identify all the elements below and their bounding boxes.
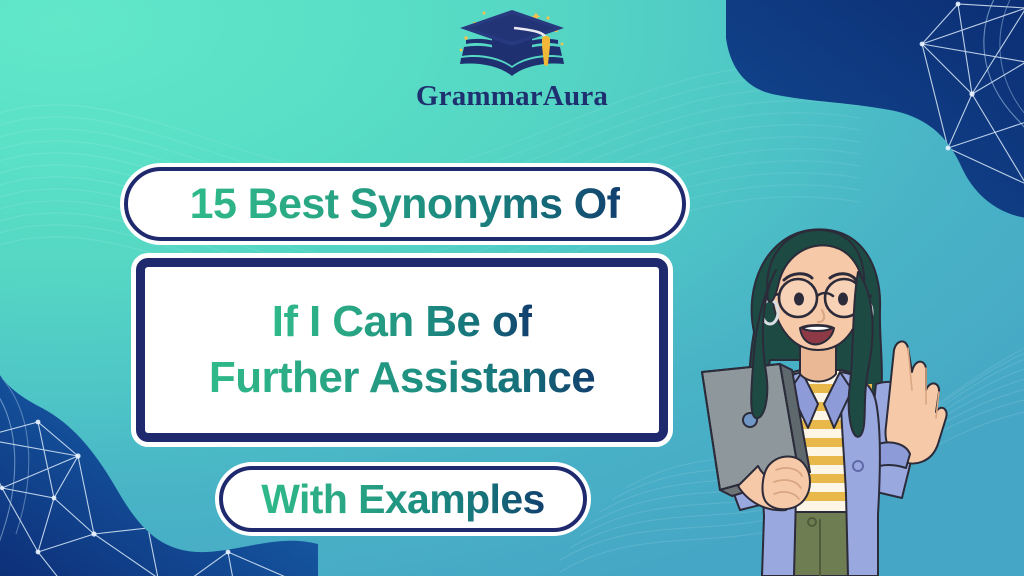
headline-main-box: If I Can Be of Further Assistance (136, 258, 668, 442)
woman-waving-with-laptop-illustration (662, 214, 962, 576)
graduation-cap-book-icon (448, 4, 576, 80)
headline-pill-top: 15 Best Synonyms Of (124, 167, 686, 241)
hand-gripping-laptop (763, 457, 810, 510)
eye-left (794, 293, 804, 306)
headline-pill-bottom-text: With Examples (261, 476, 544, 523)
banner-canvas: GrammarAura 15 Best Synonyms Of If I Can… (0, 0, 1024, 576)
brand-logo[interactable]: GrammarAura (0, 4, 1024, 111)
headline-pill-bottom: With Examples (219, 466, 587, 532)
headline-pill-top-text: 15 Best Synonyms Of (190, 180, 621, 229)
brand-wordmark: GrammarAura (416, 82, 608, 111)
headline-main-line-2: Further Assistance (209, 351, 595, 405)
eye-right (838, 293, 848, 306)
headline-main-line-1: If I Can Be of (272, 295, 533, 349)
